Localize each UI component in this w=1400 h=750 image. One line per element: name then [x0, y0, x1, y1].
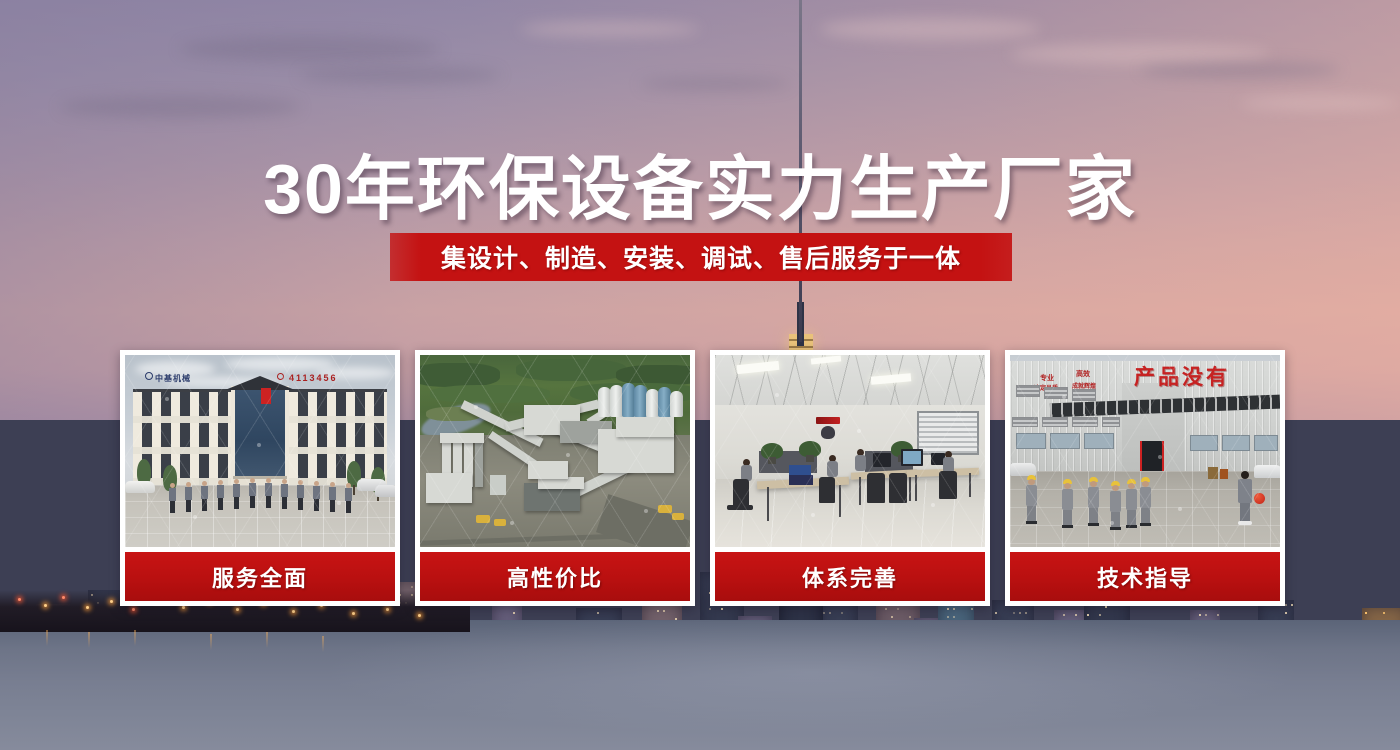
building-phone-text: 4113456 — [289, 373, 338, 383]
banner-subtitle-text: 集设计、制造、安装、调试、售后服务于一体 — [441, 239, 961, 275]
supervisor-figure — [1238, 471, 1252, 525]
feature-card-system[interactable]: 体系完善 — [710, 350, 990, 606]
card-label-text: 高性价比 — [507, 561, 603, 593]
factory-wall-small-2: 高效 — [1076, 369, 1090, 379]
water-sheen — [0, 620, 1400, 750]
company-office-building-with-staff-photo: 中基机械 4113456 — [125, 355, 395, 547]
card-label-bar: 服务全面 — [125, 552, 395, 601]
feature-card-value[interactable]: 高性价比 — [415, 350, 695, 606]
factory-wall-slogan: 产品没有 — [1134, 361, 1230, 391]
card-label-text: 服务全面 — [212, 561, 308, 593]
feature-card-service[interactable]: 中基机械 4113456 — [120, 350, 400, 606]
red-helmet — [1254, 493, 1265, 504]
banner-subtitle-bar: 集设计、制造、安装、调试、售后服务于一体 — [390, 233, 1012, 281]
open-plan-office-interior-photo — [715, 355, 985, 547]
company-logo-icon — [145, 372, 153, 380]
feature-card-guidance[interactable]: 产品没有 专业 高效 决定品质 成就辉煌 — [1005, 350, 1285, 606]
phone-icon — [277, 373, 284, 380]
building-sign-text: 中基机械 — [155, 373, 191, 384]
feature-card-row: 中基机械 4113456 — [120, 350, 1288, 606]
factory-wall-small-1: 专业 — [1040, 373, 1054, 383]
barrel — [1208, 467, 1218, 479]
promotional-banner: 30年环保设备实力生产厂家 集设计、制造、安装、调试、售后服务于一体 — [0, 0, 1400, 750]
window-blinds — [917, 411, 979, 455]
aerial-industrial-plant-photo — [420, 355, 690, 547]
workers-briefing-at-factory-photo: 产品没有 专业 高效 决定品质 成就辉煌 — [1010, 355, 1280, 547]
card-label-bar: 高性价比 — [420, 552, 690, 601]
barrel — [1220, 469, 1228, 479]
card-label-bar: 体系完善 — [715, 552, 985, 601]
wall-emblem — [813, 417, 843, 445]
card-label-text: 体系完善 — [802, 561, 898, 593]
card-label-bar: 技术指导 — [1010, 552, 1280, 601]
banner-headline: 30年环保设备实力生产厂家 — [0, 133, 1400, 234]
card-label-text: 技术指导 — [1097, 561, 1193, 593]
